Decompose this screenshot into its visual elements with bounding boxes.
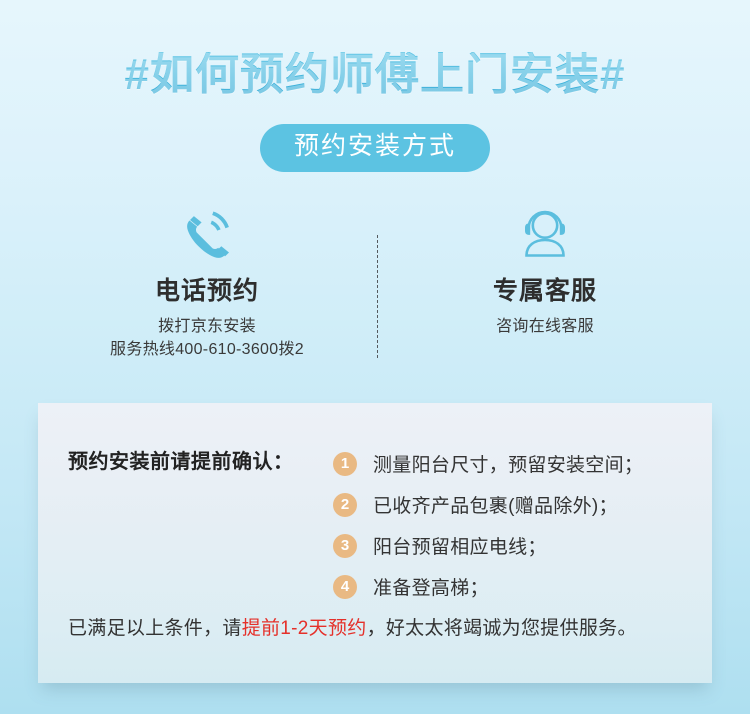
list-item: 3 阳台预留相应电线； [333,525,703,566]
service-sub-line-2: 服务热线400-610-3600拨2 [42,338,372,361]
checklist-footnote: 已满足以上条件，请提前1-2天预约，好太太将竭诚为您提供服务。 [68,613,637,640]
footnote-suffix: ，好太太将竭诚为您提供服务。 [367,618,637,639]
promo-page: #如何预约师傅上门安装# 预约安装方式 电话预约 拨打京东安装 [0,0,750,714]
service-online-support[interactable]: 专属客服 咨询在线客服 [380,200,710,338]
step-number-badge: 4 [333,575,357,599]
list-item: 4 准备登高梯； [333,566,703,607]
service-sub-line-1: 拨打京东安装 [42,315,372,338]
service-subtitle: 拨打京东安装 服务热线400-610-3600拨2 [42,315,372,361]
service-subtitle: 咨询在线客服 [380,315,710,338]
step-text: 测量阳台尺寸，预留安装空间； [373,450,643,477]
step-number-badge: 2 [333,493,357,517]
badge-row: 预约安装方式 [0,124,750,172]
pre-booking-checklist-card: 预约安装前请提前确认： 1 测量阳台尺寸，预留安装空间； 2 已收齐产品包裹(赠… [38,403,712,683]
phone-ring-icon [42,200,372,268]
step-number-badge: 1 [333,452,357,476]
step-text: 准备登高梯； [373,573,489,600]
page-title: #如何预约师傅上门安装# [0,52,750,98]
list-item: 1 测量阳台尺寸，预留安装空间； [333,443,703,484]
step-number-badge: 3 [333,534,357,558]
service-sub-line-1: 咨询在线客服 [380,315,710,338]
service-phone-booking[interactable]: 电话预约 拨打京东安装 服务热线400-610-3600拨2 [42,200,372,362]
list-item: 2 已收齐产品包裹(赠品除外)； [333,484,703,525]
service-title: 电话预约 [42,276,372,307]
checklist-label: 预约安装前请提前确认： [68,445,294,474]
service-columns: 电话预约 拨打京东安装 服务热线400-610-3600拨2 专属客 [0,200,750,380]
booking-method-badge: 预约安装方式 [260,124,490,172]
step-text: 阳台预留相应电线； [373,532,547,559]
footnote-prefix: 已满足以上条件，请 [68,618,242,639]
checklist-steps: 1 测量阳台尺寸，预留安装空间； 2 已收齐产品包裹(赠品除外)； 3 阳台预留… [333,443,703,607]
footnote-highlight: 提前1-2天预约 [242,618,367,639]
service-title: 专属客服 [380,276,710,307]
vertical-dashed-divider [377,235,378,358]
headset-customer-service-icon [380,200,710,268]
step-text: 已收齐产品包裹(赠品除外)； [373,491,618,518]
